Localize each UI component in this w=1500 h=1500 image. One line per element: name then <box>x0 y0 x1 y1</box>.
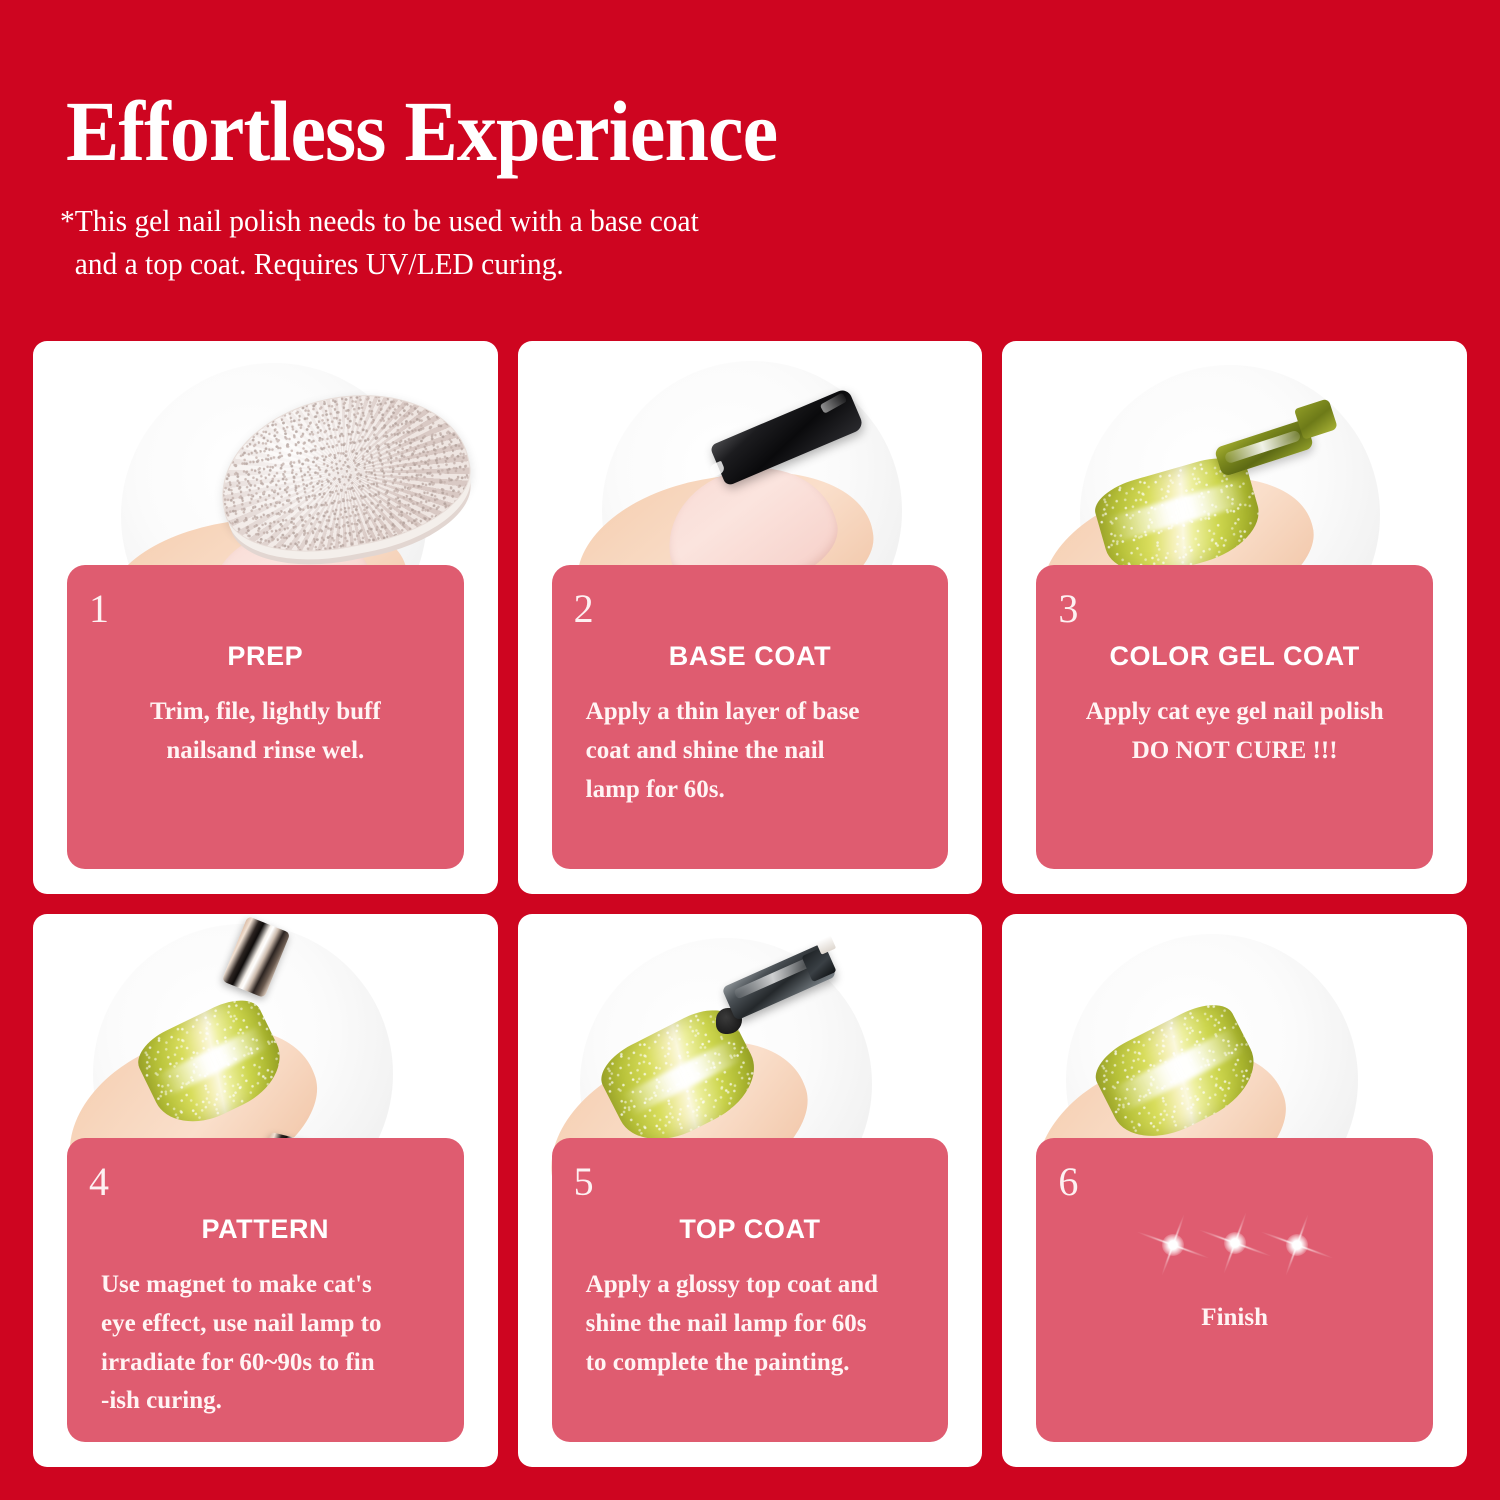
step-body: Apply a thin layer of base coat and shin… <box>586 693 923 809</box>
step-heading: PREP <box>67 641 464 672</box>
step-5-panel: 5 TOP COAT Apply a glossy top coat and s… <box>552 1138 949 1442</box>
sparkle-core <box>1286 1234 1308 1256</box>
step-1-panel: 1 PREP Trim, file, lightly buff nailsand… <box>67 565 464 869</box>
step-card-5[interactable]: 5 TOP COAT Apply a glossy top coat and s… <box>518 914 983 1467</box>
step-number: 2 <box>574 589 594 629</box>
step-4-panel: 4 PATTERN Use magnet to make cat's eye e… <box>67 1138 464 1442</box>
step-number: 1 <box>89 589 109 629</box>
step-6-panel: 6 Finish <box>1036 1138 1433 1442</box>
step-body: Apply a glossy top coat and shine the na… <box>586 1266 923 1382</box>
applicator-shine <box>733 957 812 999</box>
step-2-panel: 2 BASE COAT Apply a thin layer of base c… <box>552 565 949 869</box>
sparkle-icon <box>1135 1197 1211 1293</box>
step-card-3[interactable]: 3 COLOR GEL COAT Apply cat eye gel nail … <box>1002 341 1467 894</box>
step-number: 3 <box>1058 589 1078 629</box>
brush-shine <box>1224 430 1302 465</box>
step-3-panel: 3 COLOR GEL COAT Apply cat eye gel nail … <box>1036 565 1433 869</box>
step-body: Apply cat eye gel nail polish DO NOT CUR… <box>1056 693 1413 771</box>
step-heading: BASE COAT <box>552 641 949 672</box>
step-number: 6 <box>1058 1162 1078 1202</box>
step-heading: COLOR GEL COAT <box>1036 641 1433 672</box>
step-card-1[interactable]: 1 PREP Trim, file, lightly buff nailsand… <box>33 341 498 894</box>
page-title: Effortless Experience <box>66 88 777 174</box>
sparkle-core <box>1224 1232 1246 1254</box>
step-number: 4 <box>89 1162 109 1202</box>
step-body: Trim, file, lightly buff nailsand rinse … <box>87 693 444 771</box>
finish-label: Finish <box>1036 1304 1433 1332</box>
step-heading: TOP COAT <box>552 1214 949 1245</box>
steps-grid: 1 PREP Trim, file, lightly buff nailsand… <box>33 341 1467 1467</box>
nail-buffer-block <box>207 375 481 570</box>
sparkle-group <box>1036 1190 1433 1300</box>
gel-brush-handle <box>1294 398 1338 440</box>
header-banner: Effortless Experience *This gel nail pol… <box>0 0 1500 330</box>
sparkle-icon <box>1197 1195 1273 1291</box>
step-card-4[interactable]: 4 PATTERN Use magnet to make cat's eye e… <box>33 914 498 1467</box>
step-card-6[interactable]: 6 Finish <box>1002 914 1467 1467</box>
buffer-grit-texture <box>208 376 480 569</box>
page-subtitle: *This gel nail polish needs to be used w… <box>60 200 699 286</box>
step-number: 5 <box>574 1162 594 1202</box>
step-card-2[interactable]: 2 BASE COAT Apply a thin layer of base c… <box>518 341 983 894</box>
sparkle-icon <box>1259 1197 1335 1293</box>
step-heading: PATTERN <box>67 1214 464 1245</box>
step-body: Use magnet to make cat's eye effect, use… <box>101 1266 438 1421</box>
sparkle-core <box>1162 1234 1184 1256</box>
magnet-bar-top <box>222 916 291 998</box>
